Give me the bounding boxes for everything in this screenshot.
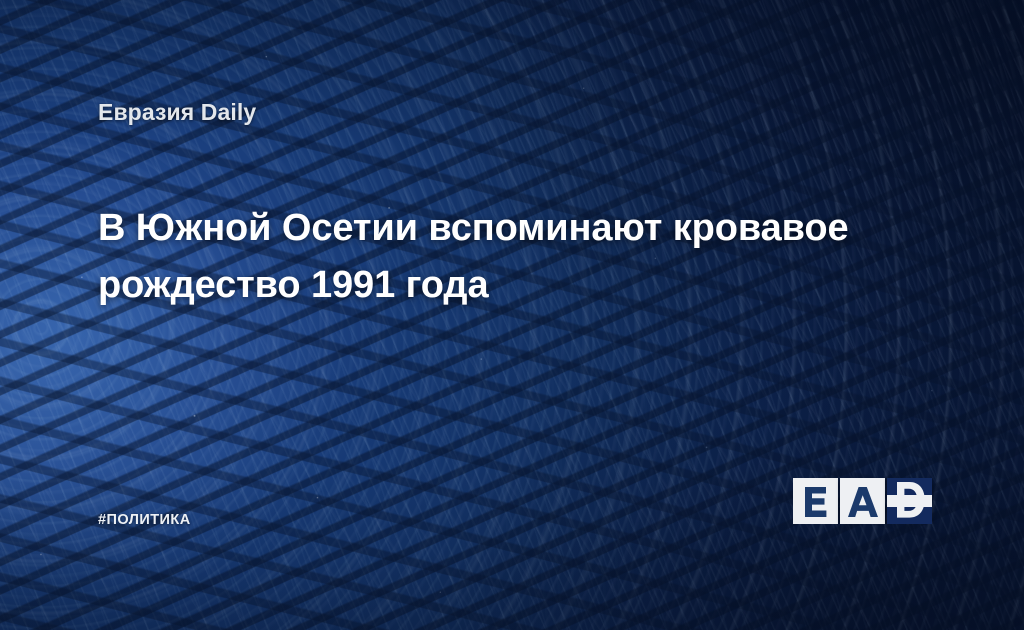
logo-tile-d — [887, 478, 932, 524]
article-headline: В Южной Осетии вспоминают кровавое рожде… — [98, 200, 938, 314]
logo-tile-a — [840, 478, 885, 524]
category-tag: #ПОЛИТИКА — [98, 512, 191, 528]
social-share-card: Евразия Daily В Южной Осетии вспоминают … — [0, 0, 1024, 630]
card-content: Евразия Daily В Южной Осетии вспоминают … — [0, 0, 1024, 630]
eadaily-logo — [793, 478, 1024, 524]
logo-tile-d-band — [887, 495, 932, 507]
brand-name: Евразия Daily — [98, 99, 256, 126]
logo-tile-e — [793, 478, 838, 524]
